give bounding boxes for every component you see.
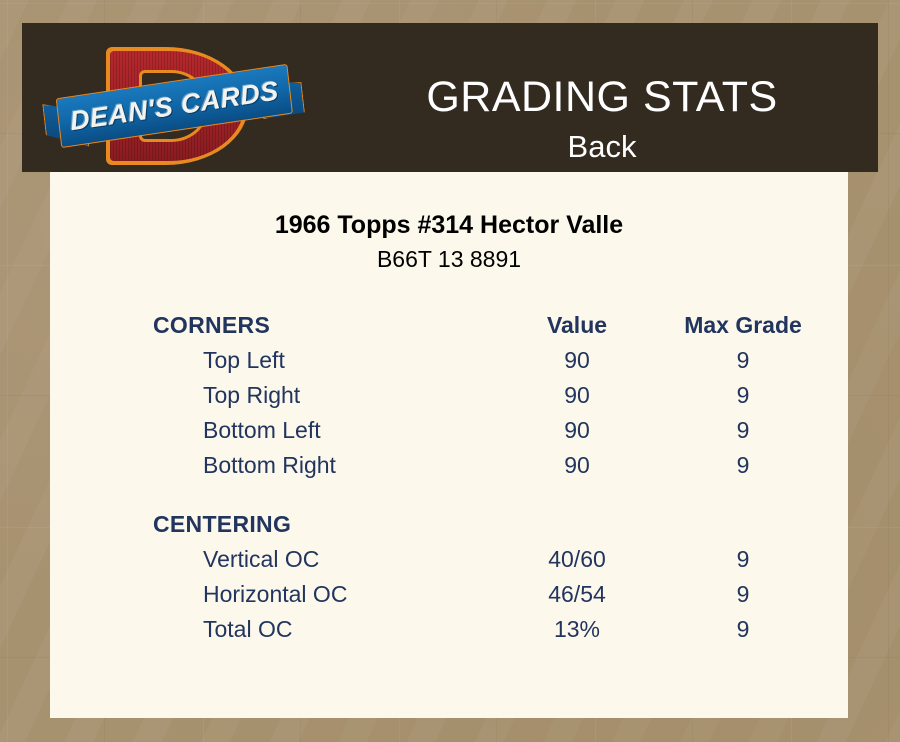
section-corners: CORNERS Value Max Grade Top Left 90 9 To…: [153, 312, 848, 487]
row-value: 46/54: [501, 581, 653, 608]
row-label: Bottom Left: [153, 417, 501, 444]
row-value: 90: [501, 347, 653, 374]
table-row: Total OC 13% 9: [153, 616, 848, 651]
column-header-value: Value: [501, 312, 653, 339]
table-row: Bottom Left 90 9: [153, 417, 848, 452]
row-max-grade: 9: [653, 546, 833, 573]
section-header-row-corners: CORNERS Value Max Grade: [153, 312, 848, 347]
row-value: 40/60: [501, 546, 653, 573]
section-header-row-centering: CENTERING: [153, 511, 848, 546]
section-title-corners: CORNERS: [153, 312, 501, 339]
grading-stats-table: CORNERS Value Max Grade Top Left 90 9 To…: [153, 312, 848, 661]
row-max-grade: 9: [653, 616, 833, 643]
row-label: Vertical OC: [153, 546, 501, 573]
header-title-block: GRADING STATS Back: [322, 46, 882, 195]
row-max-grade: 9: [653, 581, 833, 608]
card-title-block: 1966 Topps #314 Hector Valle B66T 13 889…: [50, 210, 848, 275]
table-row: Horizontal OC 46/54 9: [153, 581, 848, 616]
row-max-grade: 9: [653, 452, 833, 479]
card-title: 1966 Topps #314 Hector Valle: [50, 210, 848, 241]
row-value: 13%: [501, 616, 653, 643]
grading-stats-page: DEAN'S CARDS GRADING STATS Back 1966 Top…: [0, 0, 900, 742]
row-value: 90: [501, 417, 653, 444]
row-label: Bottom Right: [153, 452, 501, 479]
row-value: 90: [501, 452, 653, 479]
table-row: Top Left 90 9: [153, 347, 848, 382]
row-label: Total OC: [153, 616, 501, 643]
section-title-centering: CENTERING: [153, 511, 501, 538]
row-max-grade: 9: [653, 417, 833, 444]
table-row: Vertical OC 40/60 9: [153, 546, 848, 581]
row-max-grade: 9: [653, 382, 833, 409]
row-label: Top Right: [153, 382, 501, 409]
table-row: Bottom Right 90 9: [153, 452, 848, 487]
section-centering: CENTERING Vertical OC 40/60 9 Horizontal…: [153, 511, 848, 651]
row-label: Horizontal OC: [153, 581, 501, 608]
row-max-grade: 9: [653, 347, 833, 374]
page-subtitle: Back: [568, 128, 637, 165]
content-panel: 1966 Topps #314 Hector Valle B66T 13 889…: [50, 172, 848, 718]
header-bar: DEAN'S CARDS GRADING STATS Back: [22, 23, 878, 172]
column-header-max-grade: Max Grade: [653, 312, 833, 339]
row-label: Top Left: [153, 347, 501, 374]
row-value: 90: [501, 382, 653, 409]
page-title: GRADING STATS: [426, 75, 777, 120]
section-spacer: [153, 497, 848, 511]
table-row: Top Right 90 9: [153, 382, 848, 417]
card-code: B66T 13 8891: [50, 244, 848, 275]
deans-cards-logo[interactable]: DEAN'S CARDS: [44, 33, 304, 163]
